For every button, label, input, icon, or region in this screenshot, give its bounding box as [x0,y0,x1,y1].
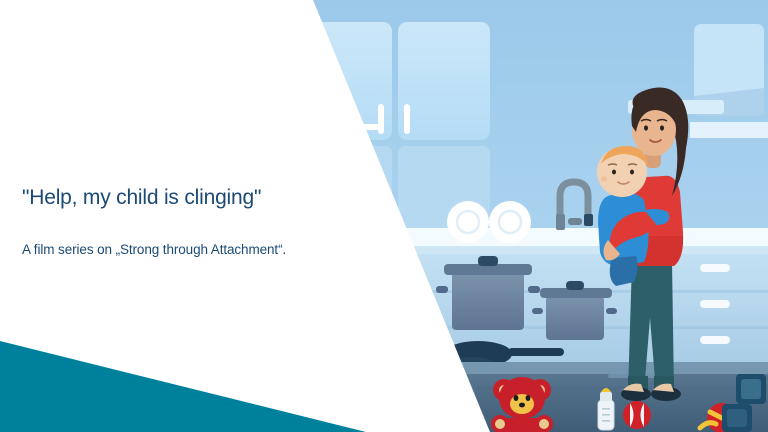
page-title: "Help, my child is clinging" [22,186,322,210]
red-ball-toy [623,401,651,429]
teddy-bear-toy [491,377,553,432]
page-subtitle: A film series on „Strong through Attachm… [22,242,322,258]
slide-canvas: "Help, my child is clinging" A film seri… [0,0,768,432]
title-text-block: "Help, my child is clinging" A film seri… [22,186,322,258]
baby-bottle [598,388,614,430]
